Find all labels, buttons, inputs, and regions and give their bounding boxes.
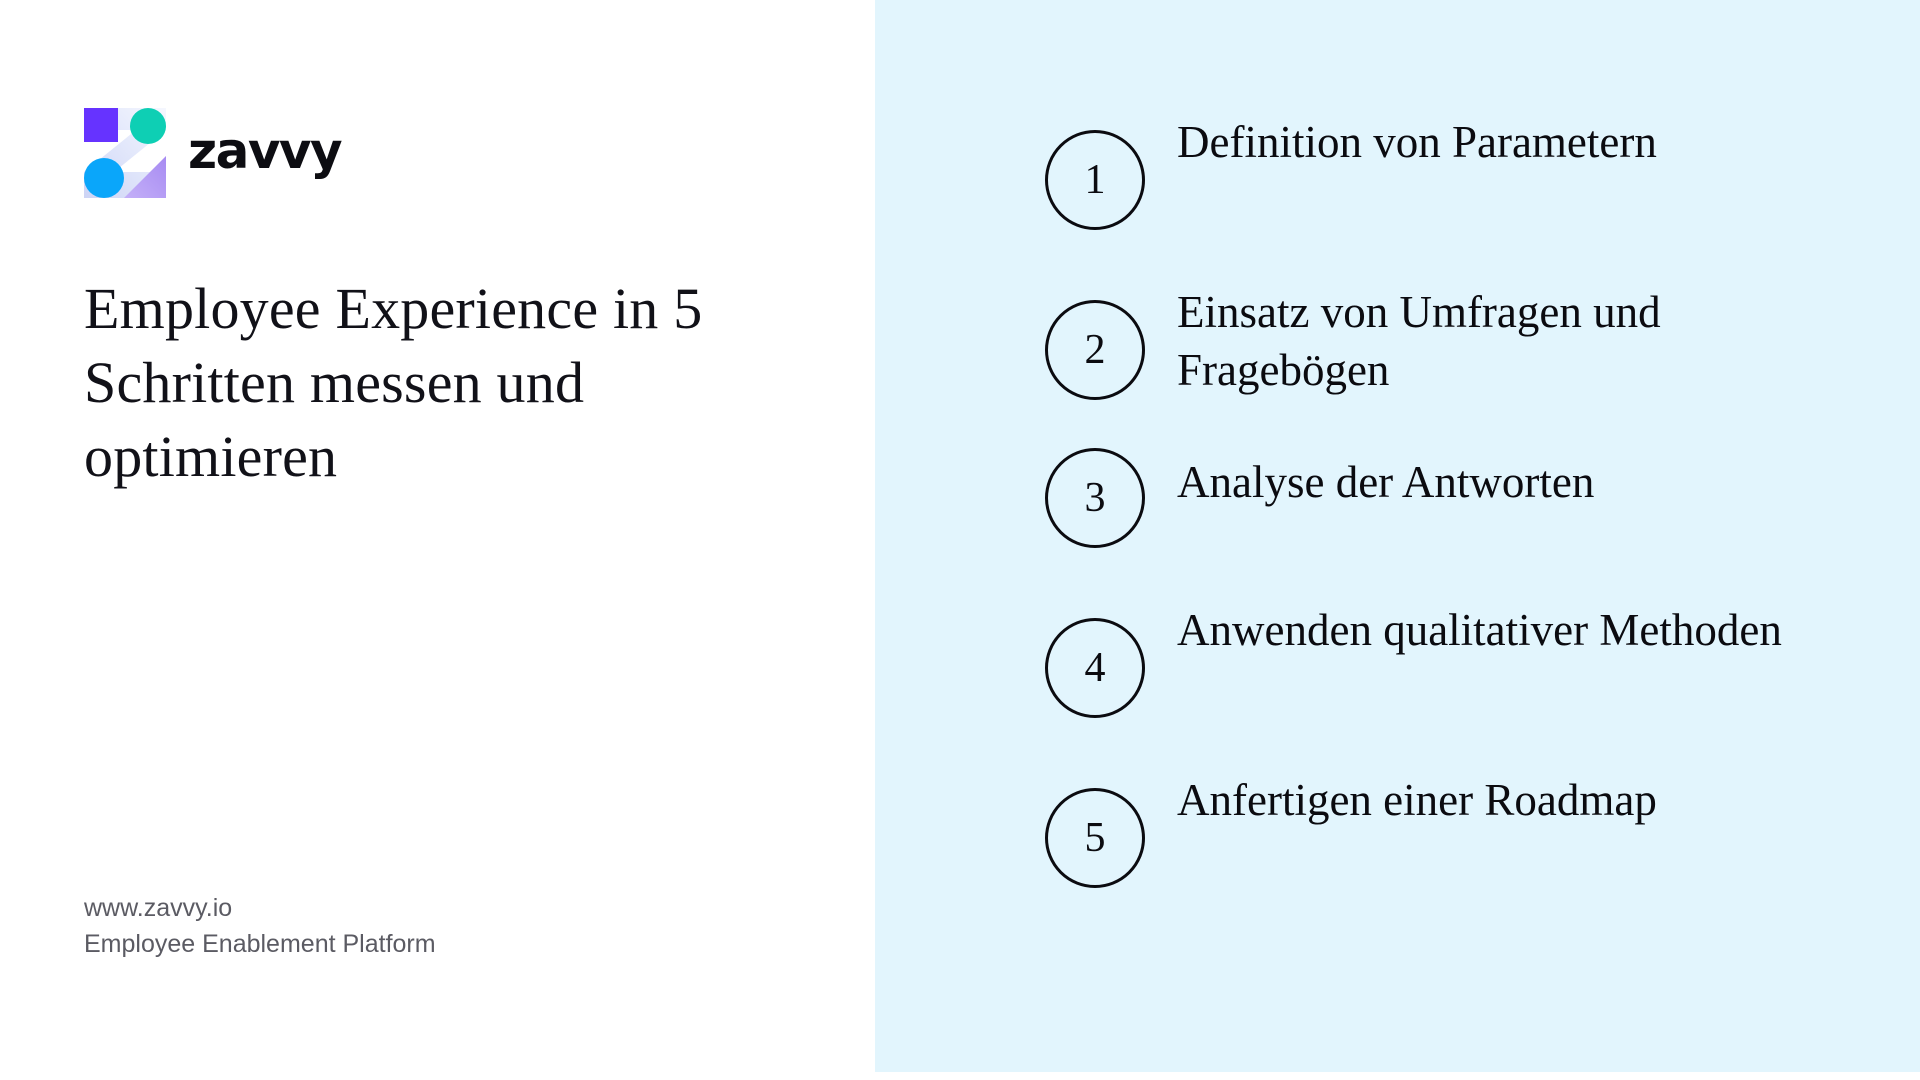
step-label: Einsatz von Umfragen und Fragebögen bbox=[1177, 278, 1837, 399]
steps-list: 1 Definition von Parametern 2 Einsatz vo… bbox=[1045, 108, 1865, 888]
step-number-badge: 5 bbox=[1045, 788, 1145, 888]
brand-lockup: zavvy bbox=[84, 108, 341, 198]
step-label: Analyse der Antworten bbox=[1177, 448, 1594, 512]
zavvy-logo-icon bbox=[84, 108, 166, 198]
step-number-badge: 2 bbox=[1045, 300, 1145, 400]
step-label: Anfertigen einer Roadmap bbox=[1177, 766, 1657, 830]
footer-block: www.zavvy.io Employee Enablement Platfor… bbox=[84, 890, 436, 963]
brand-wordmark: zavvy bbox=[188, 126, 341, 180]
left-content-panel: zavvy Employee Experience in 5 Schritten… bbox=[0, 0, 875, 1080]
footer-tagline: Employee Enablement Platform bbox=[84, 926, 436, 962]
list-item: 3 Analyse der Antworten bbox=[1045, 448, 1865, 548]
step-number-badge: 4 bbox=[1045, 618, 1145, 718]
page-title: Employee Experience in 5 Schritten messe… bbox=[84, 272, 784, 495]
step-label: Anwenden qualitativer Methoden bbox=[1177, 596, 1782, 660]
step-number-badge: 1 bbox=[1045, 130, 1145, 230]
list-item: 5 Anfertigen einer Roadmap bbox=[1045, 766, 1865, 888]
list-item: 1 Definition von Parametern bbox=[1045, 108, 1865, 230]
list-item: 4 Anwenden qualitativer Methoden bbox=[1045, 596, 1865, 718]
step-label: Definition von Parametern bbox=[1177, 108, 1657, 172]
step-number-badge: 3 bbox=[1045, 448, 1145, 548]
steps-panel: 1 Definition von Parametern 2 Einsatz vo… bbox=[875, 0, 1920, 1072]
footer-website: www.zavvy.io bbox=[84, 890, 436, 926]
slide-root: zavvy Employee Experience in 5 Schritten… bbox=[0, 0, 1920, 1080]
list-item: 2 Einsatz von Umfragen und Fragebögen bbox=[1045, 278, 1865, 400]
